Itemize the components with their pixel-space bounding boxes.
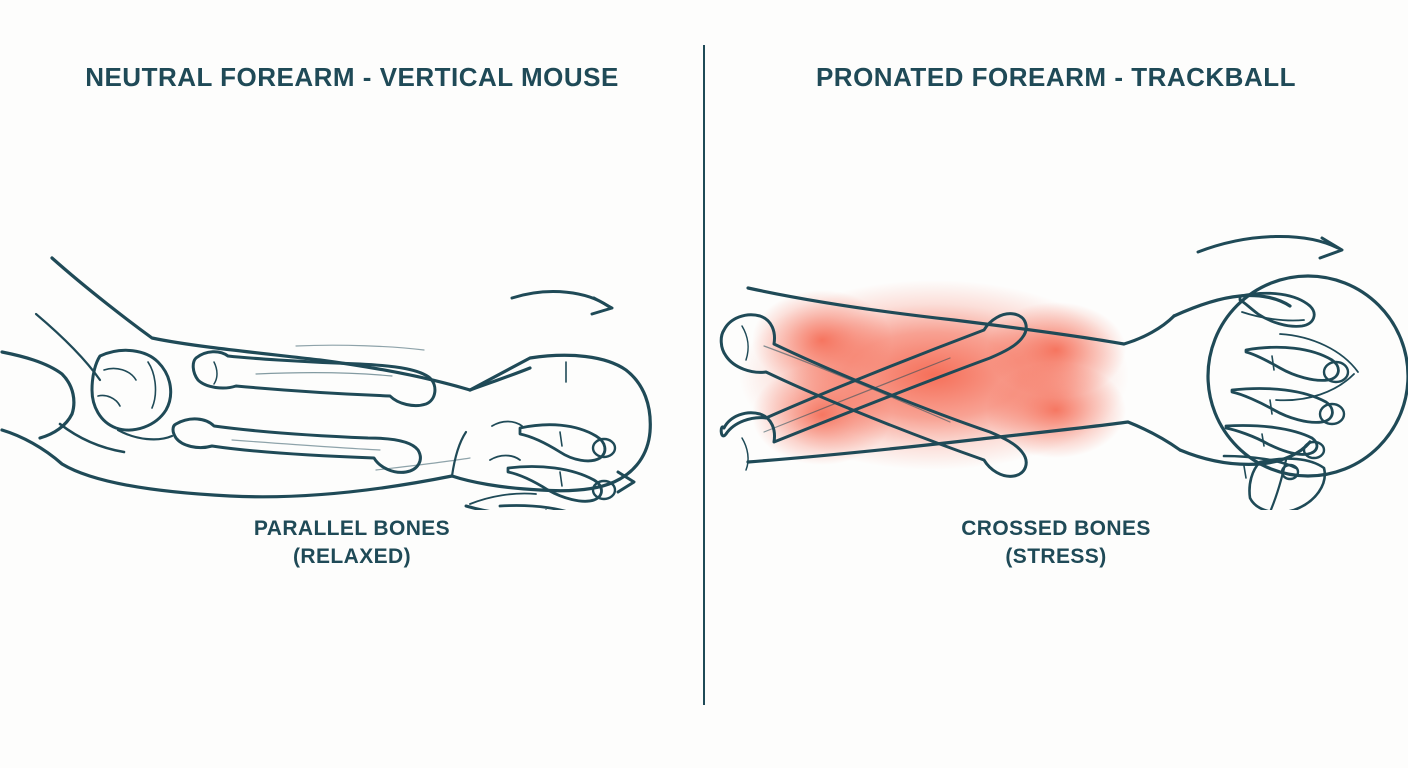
illustration-pronated-forearm [704,210,1408,510]
finger-crease-4 [1244,466,1246,478]
fingertip-2 [593,481,615,499]
caption-left-line1: PARALLEL BONES [254,517,450,540]
upper-arm-inner-line [36,314,100,380]
caption-left-line2: (RELAXED) [0,543,704,571]
caption-right-line1: CROSSED BONES [961,517,1151,540]
finger-crease-2 [1270,400,1272,414]
middle-finger [1232,389,1332,423]
hand-outline [452,355,650,490]
caption-right: CROSSED BONES (STRESS) [704,515,1408,571]
finger-crease-2 [560,472,562,486]
trackball-button-split [1270,460,1286,510]
ulna-head-detail [742,438,748,470]
caption-left: PARALLEL BONES (RELAXED) [0,515,704,571]
condyle-shade-2 [98,395,120,406]
finger-crease-1 [1272,356,1274,370]
condyle-shade-1 [104,368,136,380]
knuckle-arc-1 [492,422,522,427]
rotation-arrow-shaft [1198,236,1338,252]
thumb-crease [1242,312,1304,321]
ulna-shaft-hint [232,440,380,450]
index-finger [520,425,605,461]
wrist-crease [452,432,466,476]
finger-crease-1 [560,432,562,446]
middle-finger [508,467,602,502]
radius-shaft-hint [256,373,392,376]
panel-title-left: NEUTRAL FOREARM - VERTICAL MOUSE [0,62,704,93]
caption-right-line2: (STRESS) [704,543,1408,571]
humerus-condyle [92,350,171,430]
illustration-neutral-forearm [0,210,704,510]
condyle-shade-3 [148,362,155,408]
finger-crease-3 [1262,434,1264,446]
ring-finger [500,506,588,510]
figure-canvas: NEUTRAL FOREARM - VERTICAL MOUSE [0,0,1408,768]
forearm-muscle-line-1 [296,345,424,350]
thumb-crease [470,493,536,504]
radius-head-line [214,362,217,384]
panel-neutral-forearm: NEUTRAL FOREARM - VERTICAL MOUSE [0,0,704,768]
panel-title-right: PRONATED FOREARM - TRACKBALL [704,62,1408,93]
ulna-bone [173,419,420,472]
knuckle-arc-2 [490,456,520,461]
panel-pronated-forearm: PRONATED FOREARM - TRACKBALL [704,0,1408,768]
